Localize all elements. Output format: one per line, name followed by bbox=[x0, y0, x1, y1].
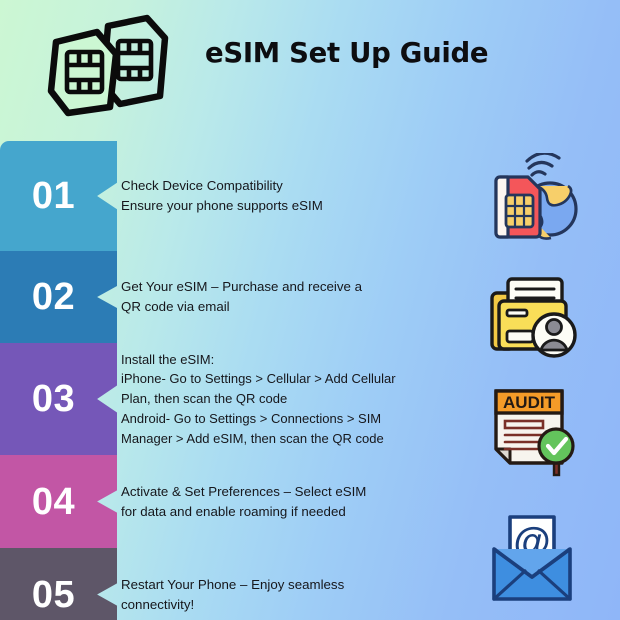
step-line: iPhone- Go to Settings > Cellular > Add … bbox=[121, 369, 466, 389]
step-number: 03 bbox=[32, 380, 75, 418]
audit-banner-text: AUDIT bbox=[503, 393, 556, 412]
step-line: Manager > Add eSIM, then scan the QR cod… bbox=[121, 429, 466, 449]
step-line: Restart Your Phone – Enjoy seamless bbox=[121, 575, 451, 595]
step-line: Activate & Set Preferences – Select eSIM bbox=[121, 482, 451, 502]
sim-card-globe-icon bbox=[482, 153, 582, 253]
step-number-bar: 01 bbox=[0, 141, 117, 251]
step-number: 02 bbox=[32, 278, 75, 316]
step-number-bar: 02 bbox=[0, 251, 117, 343]
step-line: connectivity! bbox=[121, 595, 451, 615]
icon-column: AUDIT @ bbox=[470, 141, 620, 611]
step-description: Install the eSIM: iPhone- Go to Settings… bbox=[121, 343, 466, 455]
audit-document-check-icon: AUDIT bbox=[482, 381, 582, 481]
step-line: Plan, then scan the QR code bbox=[121, 389, 466, 409]
step-number-bar: 03 bbox=[0, 343, 117, 455]
step-line: Get Your eSIM – Purchase and receive a bbox=[121, 277, 451, 297]
step-description: Restart Your Phone – Enjoy seamless conn… bbox=[121, 548, 451, 620]
step-line: Install the eSIM: bbox=[121, 350, 466, 370]
step-line: QR code via email bbox=[121, 297, 451, 317]
step-number-bar: 04 bbox=[0, 455, 117, 548]
step-number-bar: 05 bbox=[0, 548, 117, 620]
step-line: for data and enable roaming if needed bbox=[121, 502, 451, 522]
step-line: Android- Go to Settings > Connections > … bbox=[121, 409, 466, 429]
poster-header: eSIM Set Up Guide bbox=[0, 0, 620, 130]
step-number: 04 bbox=[32, 483, 75, 521]
step-line: Check Device Compatibility bbox=[121, 176, 451, 196]
step-line: Ensure your phone supports eSIM bbox=[121, 196, 451, 216]
folder-contact-icon bbox=[482, 265, 582, 365]
email-envelope-at-icon: @ bbox=[482, 509, 582, 609]
step-number: 05 bbox=[32, 576, 75, 614]
page-title: eSIM Set Up Guide bbox=[205, 37, 545, 69]
step-description: Get Your eSIM – Purchase and receive a Q… bbox=[121, 251, 451, 343]
step-number: 01 bbox=[32, 177, 75, 215]
step-description: Activate & Set Preferences – Select eSIM… bbox=[121, 455, 451, 548]
dual-sim-card-icon bbox=[42, 14, 172, 118]
step-description: Check Device Compatibility Ensure your p… bbox=[121, 141, 451, 251]
infographic-poster: eSIM Set Up Guide 01 Check Device Compat… bbox=[0, 0, 620, 620]
